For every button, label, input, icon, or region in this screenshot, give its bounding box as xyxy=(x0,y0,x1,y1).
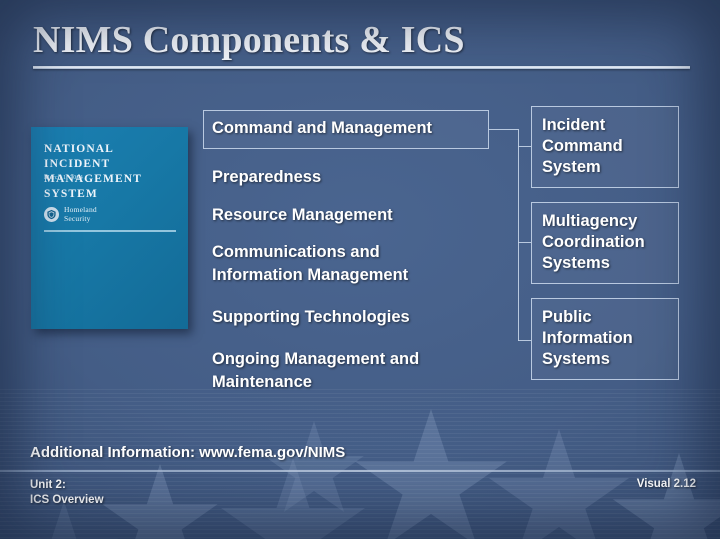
command-and-management-label: Command and Management xyxy=(212,119,432,138)
book-cover-title: NATIONAL INCIDENT MANAGEMENT SYSTEM xyxy=(44,142,180,202)
dhs-seal-icon xyxy=(44,207,59,222)
component-item-preparedness: Preparedness xyxy=(212,167,321,187)
subsystem-label: Public Information Systems xyxy=(542,307,678,370)
subsystem-box-public-information-systems[interactable]: Public Information Systems xyxy=(531,298,679,380)
subsystem-label: Incident Command System xyxy=(542,115,678,178)
star-icon xyxy=(486,429,632,539)
connector-branch-incident-command-system xyxy=(518,146,531,147)
component-item-ongoing-management-and-maintenance: Ongoing Management and Maintenance xyxy=(212,348,419,394)
dhs-label: Homeland Security xyxy=(64,206,97,223)
book-cover-divider xyxy=(44,230,176,232)
connector-trunk-vertical xyxy=(518,129,519,341)
footer-divider xyxy=(0,470,720,472)
footer-visual-number: Visual 2.12 xyxy=(637,478,696,490)
star-icon xyxy=(352,409,510,539)
subsystem-label: Multiagency Coordination Systems xyxy=(542,211,678,274)
subsystem-box-multiagency-coordination-systems[interactable]: Multiagency Coordination Systems xyxy=(531,202,679,284)
book-cover-date: March 1, 2004 xyxy=(44,175,83,181)
star-icon xyxy=(610,453,720,539)
title-underline xyxy=(33,66,690,69)
additional-information-text: Additional Information: www.fema.gov/NIM… xyxy=(30,444,345,461)
component-item-resource-management: Resource Management xyxy=(212,205,393,225)
subsystem-box-incident-command-system[interactable]: Incident Command System xyxy=(531,106,679,188)
connector-branch-multiagency-coordination-systems xyxy=(518,242,531,243)
component-item-communications-and-information-management: Communications and Information Managemen… xyxy=(212,241,408,287)
slide-canvas: NIMS Components & ICS NATIONAL INCIDENT … xyxy=(0,0,720,539)
component-item-supporting-technologies: Supporting Technologies xyxy=(212,307,410,327)
nims-document-cover: NATIONAL INCIDENT MANAGEMENT SYSTEM Marc… xyxy=(31,127,188,329)
footer-unit-label: Unit 2: ICS Overview xyxy=(30,478,104,507)
page-title: NIMS Components & ICS xyxy=(33,18,465,62)
star-icon xyxy=(100,464,220,539)
book-cover-agency: Homeland Security xyxy=(44,206,97,223)
connector-branch-public-information-systems xyxy=(518,340,531,341)
connector-stem-horizontal xyxy=(489,129,518,130)
background-stars xyxy=(0,389,720,539)
